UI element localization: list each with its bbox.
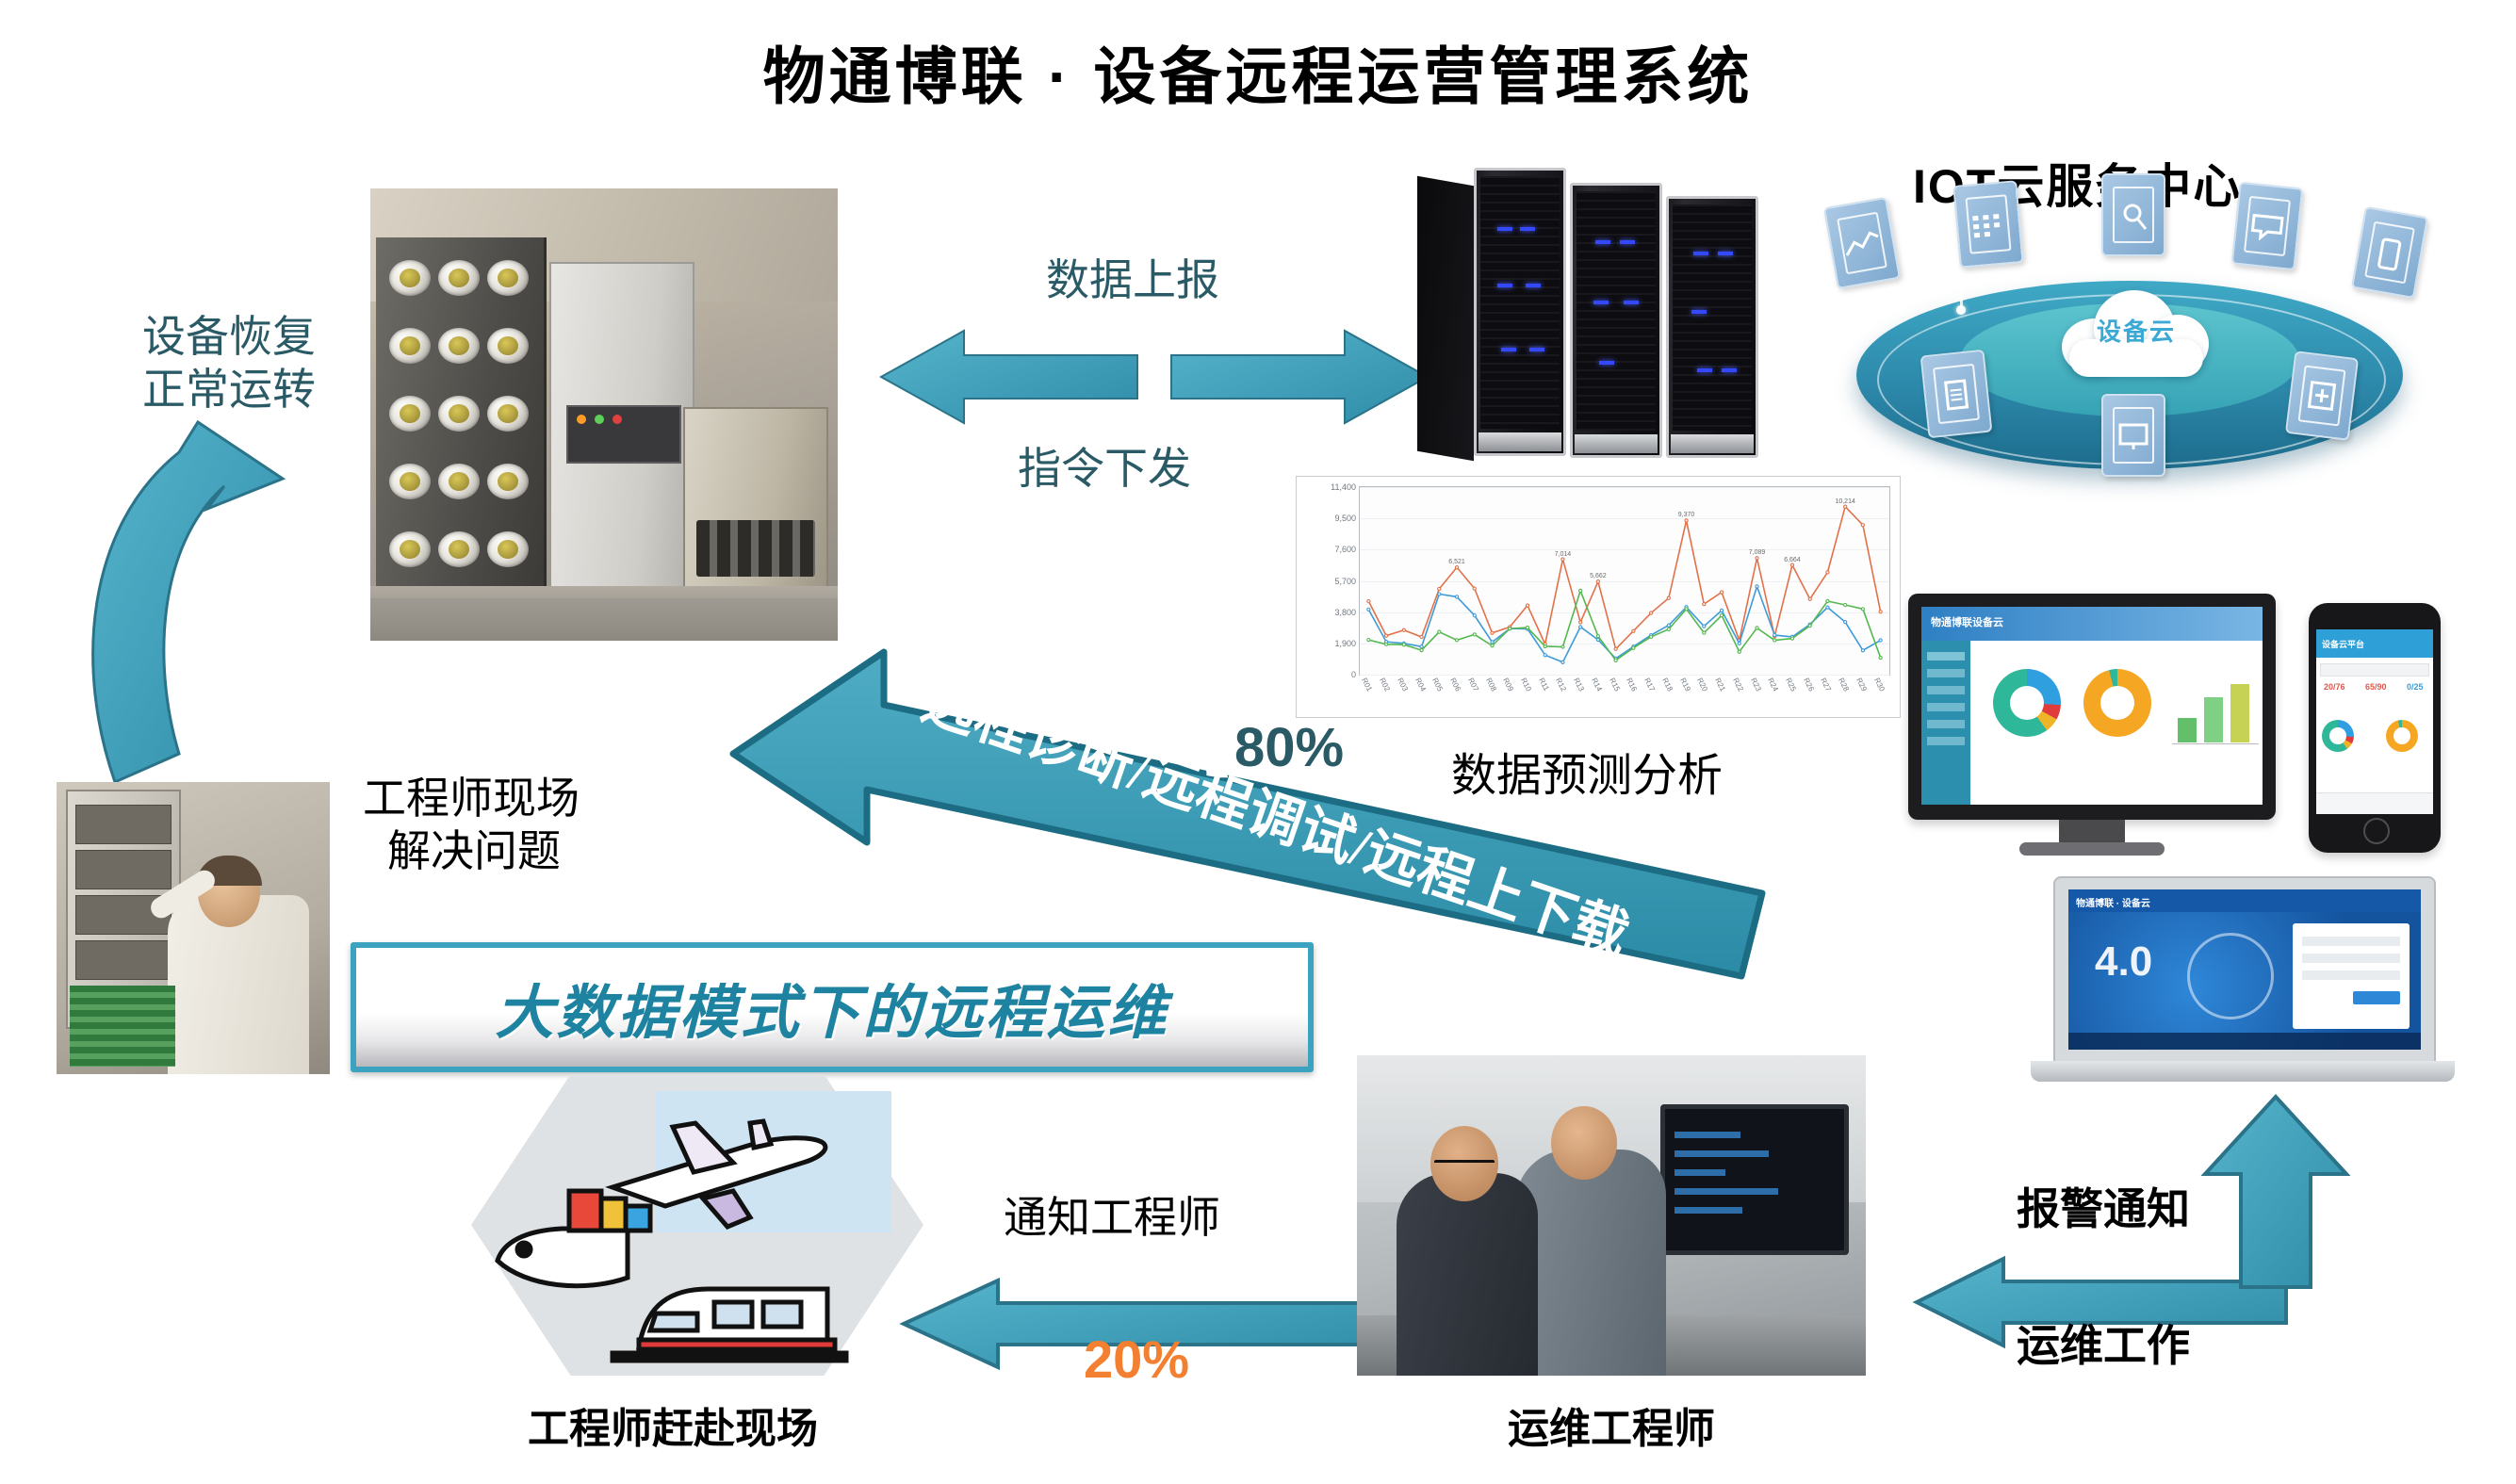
engineer-onsite-line2: 解决问题: [363, 825, 580, 878]
chart-x-tick: R26: [1802, 677, 1816, 693]
chart-data-label: 9,370: [1678, 512, 1695, 518]
cloud-core-label: 设备云: [2056, 313, 2216, 348]
data-upload-label: 数据上报: [1046, 254, 1219, 307]
chart-x-tick: R27: [1819, 677, 1833, 693]
calendar-card-icon: [1952, 180, 2023, 269]
engineer-onsite-line1: 工程师现场: [363, 773, 580, 825]
chart-x-tick: R29: [1854, 677, 1869, 693]
alarm-notification-label: 报警通知: [2017, 1182, 2190, 1235]
industrial-equipment-photo: [370, 188, 838, 641]
onsite-percentage: 20%: [1084, 1329, 1189, 1390]
iot-cloud-platform-graphic: 设备云: [1819, 170, 2441, 490]
arrow-ops-to-laptop: [2196, 1093, 2356, 1291]
slogan-box: 大数据模式下的远程运维: [351, 942, 1314, 1072]
chart-x-tick: R30: [1872, 677, 1887, 693]
monitor-card-icon: [2101, 394, 2165, 477]
engineer-at-panel-photo: [57, 782, 330, 1074]
chart-y-tick: 7,600: [1334, 545, 1356, 554]
command-dispatch-label: 指令下发: [1018, 443, 1191, 496]
chart-y-tick: 11,400: [1331, 482, 1356, 492]
phone-brand: 设备云平台: [2322, 638, 2364, 650]
ops-engineers-photo: [1357, 1055, 1866, 1376]
chart-data-label: 7,089: [1749, 549, 1766, 556]
monitor-brand: 物通博联设备云: [1931, 614, 2003, 629]
search-card-icon: [2101, 173, 2165, 256]
ops-engineer-label: 运维工程师: [1508, 1404, 1715, 1455]
arrow-engineer-to-equipment: [66, 311, 386, 801]
message-card-icon: [2231, 182, 2304, 271]
chart-data-label: 10,214: [1835, 498, 1854, 505]
document-card-icon: [1920, 350, 1993, 439]
plus-card-icon: [2285, 351, 2359, 441]
transport-modes-icon: [471, 1074, 923, 1376]
chart-y-tick: 5,700: [1334, 577, 1356, 586]
notify-engineer-label: 通知工程师: [1004, 1192, 1220, 1245]
chart-data-label: 6,664: [1784, 557, 1801, 563]
chart-data-label: 6,521: [1448, 559, 1465, 565]
laptop-brand: 物通博联 · 设备云: [2076, 895, 2150, 909]
engineer-onsite-label: 工程师现场 解决问题: [363, 773, 580, 878]
desktop-monitor-mockup: 物通博联设备云: [1908, 594, 2276, 857]
chart-data-label: 7,014: [1555, 551, 1572, 558]
laptop-mockup: 物通博联 · 设备云 4.0: [2031, 876, 2455, 1093]
smartphone-mockup: 设备云平台 20/76 65/90 0/25: [2309, 603, 2441, 853]
page-title: 物通博联 · 设备远程运营管理系统: [0, 26, 2516, 117]
chart-data-label: 5,662: [1590, 573, 1607, 579]
mobile-card-icon: [2351, 206, 2428, 299]
chart-card-icon: [1823, 197, 1901, 289]
chart-x-tick: R28: [1837, 677, 1851, 693]
server-racks-photo: [1470, 168, 1781, 479]
slogan-text: 大数据模式下的远程运维: [495, 965, 1168, 1050]
ops-work-label: 运维工作: [2017, 1319, 2190, 1372]
chart-y-tick: 9,500: [1334, 514, 1356, 523]
engineer-travels-label: 工程师赶赴现场: [528, 1404, 818, 1455]
arrow-bidirectional-server: [881, 325, 1428, 429]
